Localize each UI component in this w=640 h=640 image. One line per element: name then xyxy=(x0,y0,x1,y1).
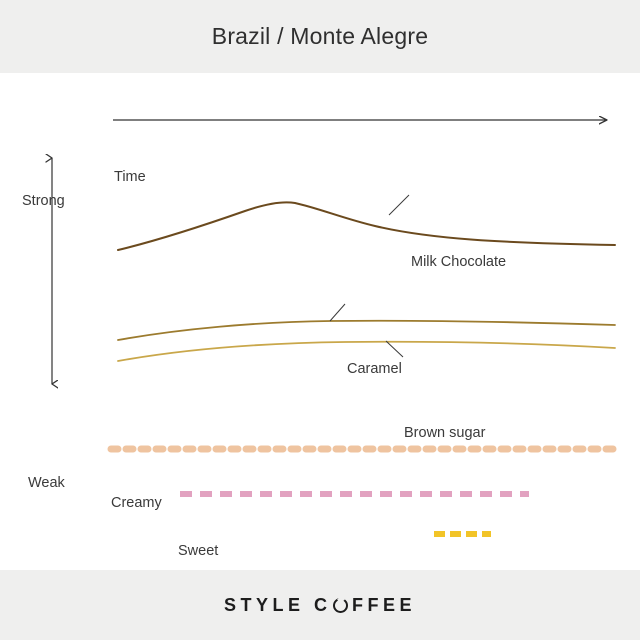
leader-line-milk-chocolate xyxy=(389,195,409,215)
coffee-bean-o-icon xyxy=(333,598,348,613)
brand-text-primary: STYLE C xyxy=(224,595,332,616)
axis-label-weak: Weak xyxy=(28,475,65,491)
series-label-sweet: Sweet xyxy=(178,543,218,559)
series-label-caramel: Caramel xyxy=(347,361,402,377)
axis-label-time: Time xyxy=(114,169,146,185)
series-line-brown-sugar xyxy=(118,342,615,361)
coffee-flavor-profile-card: Brazil / Monte Alegre xyxy=(0,0,640,640)
leader-line-brown-sugar xyxy=(386,341,403,357)
chart-canvas: Time Strong Weak Milk Chocolate Caramel … xyxy=(0,73,640,570)
series-label-milk-chocolate: Milk Chocolate xyxy=(411,254,506,270)
flavor-curves-svg xyxy=(0,73,640,570)
brand-logo: STYLE C FFEE xyxy=(224,595,416,616)
series-label-brown-sugar: Brown sugar xyxy=(404,425,485,441)
page-title: Brazil / Monte Alegre xyxy=(0,0,640,73)
series-line-milk-chocolate xyxy=(118,202,615,250)
axis-label-strong: Strong xyxy=(22,193,65,209)
series-label-creamy: Creamy xyxy=(111,495,162,511)
footer-band: STYLE C FFEE xyxy=(0,570,640,640)
series-line-caramel xyxy=(118,321,615,340)
leader-line-caramel xyxy=(330,304,345,321)
brand-text-secondary: FFEE xyxy=(352,595,416,616)
